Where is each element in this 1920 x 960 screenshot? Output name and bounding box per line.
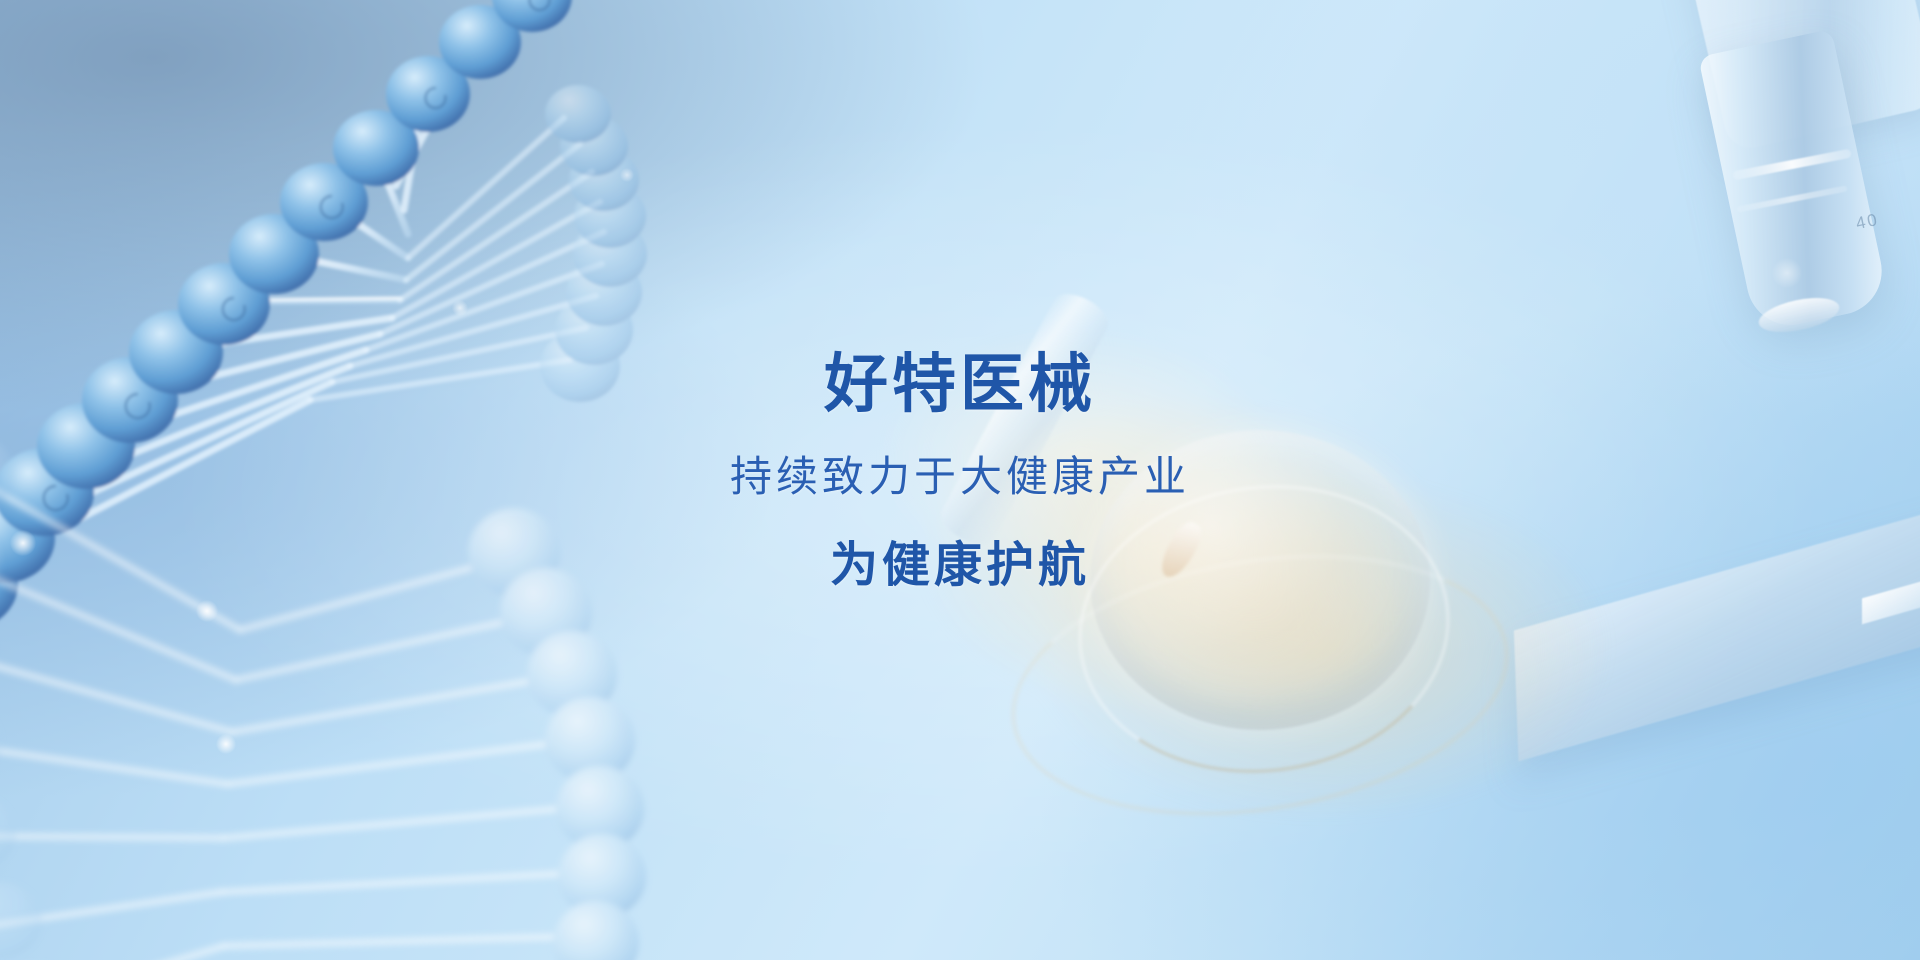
hero-banner: 40 bbox=[0, 0, 1920, 960]
dna-helix-secondary-icon bbox=[0, 440, 700, 960]
microscope-magnification-label: 40 bbox=[1854, 210, 1881, 234]
